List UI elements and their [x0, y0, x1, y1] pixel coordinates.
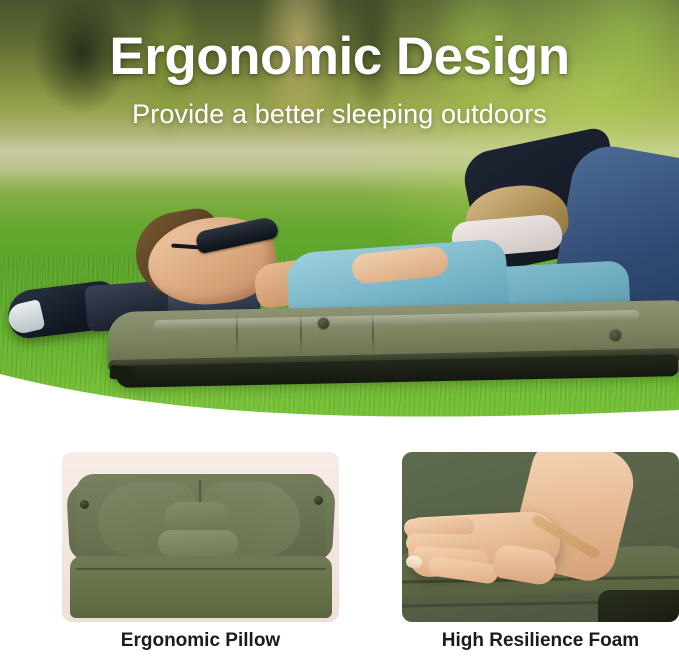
- page-title: Ergonomic Design: [0, 30, 679, 83]
- hero-banner: Ergonomic Design Provide a better sleepi…: [0, 0, 679, 430]
- foam-image: [402, 452, 679, 622]
- card-caption: Ergonomic Pillow: [62, 630, 339, 652]
- curved-divider: [0, 360, 679, 430]
- product-feature-page: Ergonomic Design Provide a better sleepi…: [0, 0, 679, 662]
- page-subtitle: Provide a better sleeping outdoors: [0, 101, 679, 128]
- pillow-image: [62, 452, 339, 622]
- grommet-icon: [80, 500, 89, 509]
- pad-body-seam: [76, 568, 326, 570]
- grommet-icon: [314, 496, 323, 505]
- foam-underside: [598, 590, 679, 622]
- pillow-center-upper: [165, 502, 229, 532]
- card-caption: High Resilience Foam: [402, 630, 679, 652]
- feature-card-ergonomic-pillow[interactable]: Ergonomic Pillow: [62, 452, 339, 622]
- feature-card-high-resilience-foam[interactable]: High Resilience Foam: [402, 452, 679, 622]
- valve-icon: [610, 330, 621, 341]
- valve-icon: [318, 318, 329, 329]
- pillow-center-bolster: [158, 530, 238, 556]
- feature-cards: Ergonomic Pillow High Resilience Foam: [0, 452, 679, 662]
- shoe-sole: [6, 299, 46, 336]
- pad-body: [70, 556, 332, 618]
